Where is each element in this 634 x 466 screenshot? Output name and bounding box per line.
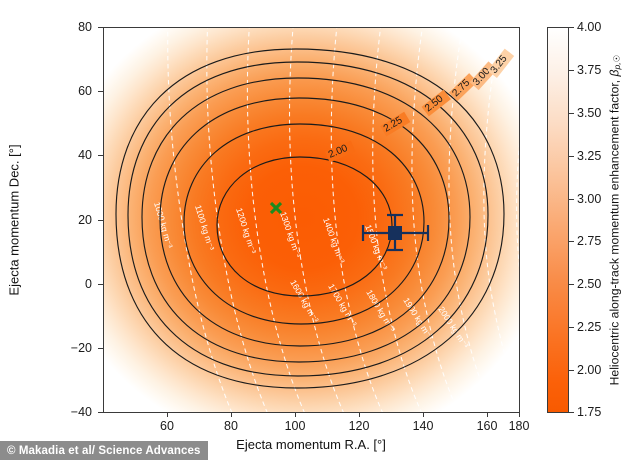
- y-tick-label: 20: [66, 213, 92, 227]
- x-tick: [167, 412, 168, 417]
- y-tick: [98, 155, 103, 156]
- colorbar-tick-label: 1.75: [577, 405, 601, 419]
- nominal-solution-cross-icon: [271, 203, 281, 213]
- x-tick: [423, 412, 424, 417]
- colorbar-tick-label: 4.00: [577, 20, 601, 34]
- colorbar-tick-label: 2.00: [577, 363, 601, 377]
- colorbar-tick-label: 2.25: [577, 320, 601, 334]
- x-tick-label: 180: [509, 419, 530, 433]
- y-tick-label: −40: [62, 405, 92, 419]
- colorbar-tick: [569, 199, 574, 200]
- x-tick: [487, 412, 488, 417]
- colorbar: 4.00 3.75 3.50 3.25 3.00 2.75 2.50 2.25 …: [547, 27, 569, 413]
- x-tick: [519, 412, 520, 417]
- credit-banner: © Makadia et al/ Science Advances: [0, 441, 208, 460]
- colorbar-gradient: [547, 27, 569, 413]
- colorbar-tick: [569, 327, 574, 328]
- colorbar-title-beta: β: [608, 70, 622, 77]
- y-tick-label: −20: [62, 341, 92, 355]
- x-axis-label: Ejecta momentum R.A. [°]: [236, 437, 386, 452]
- colorbar-tick: [569, 156, 574, 157]
- y-tick: [98, 91, 103, 92]
- colorbar-tick-label: 3.50: [577, 106, 601, 120]
- x-tick: [359, 412, 360, 417]
- colorbar-tick-label: 3.25: [577, 149, 601, 163]
- colorbar-title-main: Heliocentric along-track momentum enhanc…: [608, 76, 622, 385]
- colorbar-title-subscript: p,: [612, 62, 622, 69]
- colorbar-tick-label: 2.75: [577, 234, 601, 248]
- colorbar-tick: [569, 70, 574, 71]
- y-tick-label: 40: [66, 148, 92, 162]
- x-tick-label: 80: [224, 419, 238, 433]
- colorbar-tick-label: 3.00: [577, 192, 601, 206]
- colorbar-tick: [569, 241, 574, 242]
- y-axis-label: Ejecta momentum Dec. [°]: [7, 144, 22, 295]
- colorbar-tick: [569, 27, 574, 28]
- colorbar-title: Heliocentric along-track momentum enhanc…: [608, 55, 623, 386]
- y-tick-label: 0: [66, 277, 92, 291]
- colorbar-tick: [569, 412, 574, 413]
- sun-symbol-icon: ☉: [611, 55, 621, 63]
- y-tick-label: 60: [66, 84, 92, 98]
- plot-area: 1000 kg m⁻³ 1100 kg m⁻³ 1200 kg m⁻³ 1300…: [103, 27, 520, 413]
- colorbar-tick: [569, 370, 574, 371]
- x-tick: [231, 412, 232, 417]
- x-tick-label: 60: [160, 419, 174, 433]
- x-tick-label: 140: [413, 419, 434, 433]
- colorbar-tick: [569, 284, 574, 285]
- x-tick-label: 100: [285, 419, 306, 433]
- y-tick: [98, 27, 103, 28]
- x-tick: [295, 412, 296, 417]
- marker-layer: [104, 28, 520, 413]
- y-tick-label: 80: [66, 20, 92, 34]
- colorbar-tick-label: 3.75: [577, 63, 601, 77]
- y-tick: [98, 412, 103, 413]
- y-tick: [98, 284, 103, 285]
- y-tick: [98, 220, 103, 221]
- x-tick-label: 120: [349, 419, 370, 433]
- x-tick-label: 160: [477, 419, 498, 433]
- measured-estimate-square-marker: [388, 226, 402, 240]
- colorbar-tick-label: 2.50: [577, 277, 601, 291]
- figure-panel: 1000 kg m⁻³ 1100 kg m⁻³ 1200 kg m⁻³ 1300…: [0, 0, 634, 466]
- y-tick: [98, 348, 103, 349]
- colorbar-tick: [569, 113, 574, 114]
